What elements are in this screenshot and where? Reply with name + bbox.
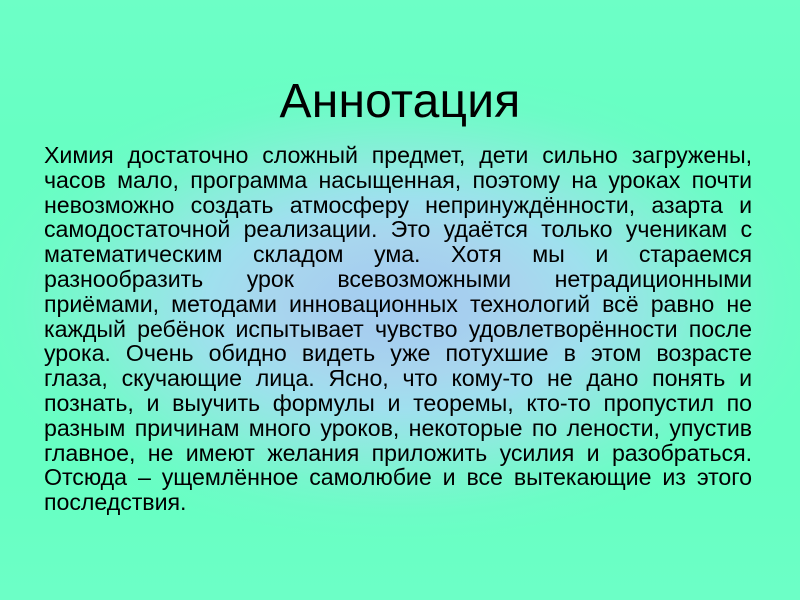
- slide-body-paragraph: Химия достаточно сложный предмет, дети с…: [44, 143, 752, 515]
- slide-title: Аннотация: [0, 73, 800, 131]
- slide-body-text-block: Химия достаточно сложный предмет, дети с…: [44, 143, 752, 515]
- presentation-slide: Аннотация Химия достаточно сложный предм…: [0, 0, 800, 600]
- slide-content: Аннотация Химия достаточно сложный предм…: [0, 0, 800, 600]
